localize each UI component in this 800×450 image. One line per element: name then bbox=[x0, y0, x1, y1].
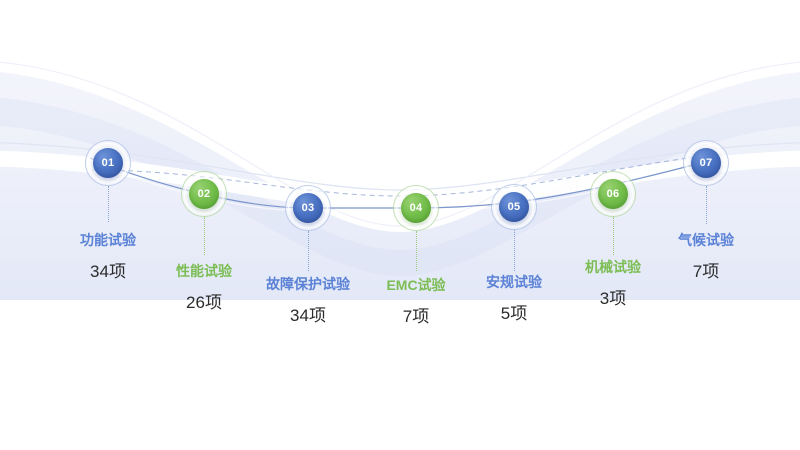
node-disc-03: 03 bbox=[293, 193, 323, 223]
drop-line-02 bbox=[204, 217, 205, 255]
timeline-label-04[interactable]: EMC试验 7项 bbox=[386, 277, 445, 327]
label-title-02: 性能试验 bbox=[176, 263, 232, 280]
node-disc-07: 07 bbox=[691, 148, 721, 178]
timeline-label-06[interactable]: 机械试验 3项 bbox=[585, 259, 641, 309]
node-disc-05: 05 bbox=[499, 192, 529, 222]
timeline-label-07[interactable]: 气候试验 7项 bbox=[678, 232, 734, 282]
timeline-node-03[interactable]: 03 bbox=[285, 185, 331, 231]
node-number-05: 05 bbox=[508, 202, 521, 213]
timeline-node-07[interactable]: 07 bbox=[683, 140, 729, 186]
node-disc-02: 02 bbox=[189, 179, 219, 209]
node-number-01: 01 bbox=[102, 158, 115, 169]
timeline-label-05[interactable]: 安规试验 5项 bbox=[486, 274, 542, 324]
label-title-05: 安规试验 bbox=[486, 274, 542, 291]
node-number-03: 03 bbox=[302, 203, 315, 214]
label-title-04: EMC试验 bbox=[386, 277, 445, 294]
timeline-label-01[interactable]: 功能试验 34项 bbox=[80, 232, 136, 282]
label-count-03: 34项 bbox=[266, 306, 350, 326]
drop-line-01 bbox=[108, 186, 109, 222]
label-count-07: 7项 bbox=[678, 262, 734, 282]
drop-line-05 bbox=[514, 230, 515, 271]
node-number-06: 06 bbox=[607, 189, 620, 200]
timeline-label-03[interactable]: 故障保护试验 34项 bbox=[266, 276, 350, 326]
timeline-node-02[interactable]: 02 bbox=[181, 171, 227, 217]
drop-line-07 bbox=[706, 186, 707, 224]
infographic-canvas: 01 02 03 04 05 06 bbox=[0, 0, 800, 450]
label-title-06: 机械试验 bbox=[585, 259, 641, 276]
label-count-02: 26项 bbox=[176, 293, 232, 313]
timeline-node-06[interactable]: 06 bbox=[590, 171, 636, 217]
label-count-06: 3项 bbox=[585, 289, 641, 309]
label-count-04: 7项 bbox=[386, 307, 445, 327]
label-count-01: 34项 bbox=[80, 262, 136, 282]
label-title-01: 功能试验 bbox=[80, 232, 136, 249]
node-number-07: 07 bbox=[700, 158, 713, 169]
node-disc-04: 04 bbox=[401, 193, 431, 223]
drop-line-03 bbox=[308, 231, 309, 271]
timeline-node-05[interactable]: 05 bbox=[491, 184, 537, 230]
node-number-04: 04 bbox=[410, 203, 423, 214]
timeline-label-02[interactable]: 性能试验 26项 bbox=[176, 263, 232, 313]
drop-line-04 bbox=[416, 231, 417, 271]
node-disc-06: 06 bbox=[598, 179, 628, 209]
timeline-node-04[interactable]: 04 bbox=[393, 185, 439, 231]
label-count-05: 5项 bbox=[486, 304, 542, 324]
drop-line-06 bbox=[613, 217, 614, 255]
label-title-07: 气候试验 bbox=[678, 232, 734, 249]
label-title-03: 故障保护试验 bbox=[266, 276, 350, 293]
node-disc-01: 01 bbox=[93, 148, 123, 178]
node-number-02: 02 bbox=[198, 189, 211, 200]
timeline-node-01[interactable]: 01 bbox=[85, 140, 131, 186]
